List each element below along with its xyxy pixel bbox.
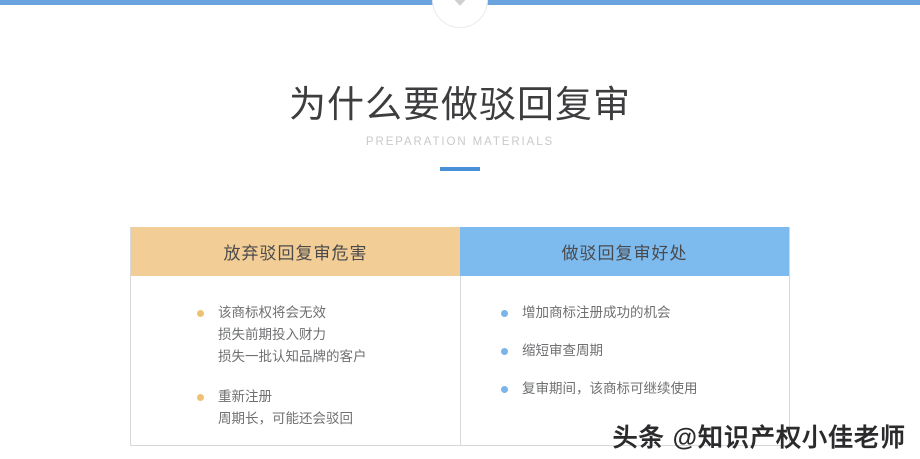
list-item-line: 复审期间，该商标可继续使用 xyxy=(522,378,789,400)
list-item-lines: 复审期间，该商标可继续使用 xyxy=(522,378,789,400)
list-item-line: 增加商标注册成功的机会 xyxy=(522,302,789,324)
comparison-table-header-row: 放弃驳回复审危害 做驳回复审好处 xyxy=(131,227,789,276)
bullet-dot-icon xyxy=(197,310,204,317)
top-divider-bar xyxy=(0,0,920,5)
list-item: 重新注册 周期长，可能还会驳回 xyxy=(197,386,460,430)
column-risk: 该商标权将会无效 损失前期投入财力 损失一批认知品牌的客户 重新注册 周期长，可… xyxy=(131,276,460,445)
accent-underline xyxy=(440,167,480,171)
list-item-lines: 重新注册 周期长，可能还会驳回 xyxy=(218,386,460,430)
column-benefit: 增加商标注册成功的机会 缩短审查周期 复审期间，该商标可继续使用 xyxy=(460,276,789,445)
watermark: 头条 @知识产权小佳老师 xyxy=(613,423,906,453)
bullet-dot-icon xyxy=(197,394,204,401)
list-item: 该商标权将会无效 损失前期投入财力 损失一批认知品牌的客户 xyxy=(197,302,460,368)
bullet-dot-icon xyxy=(501,310,508,317)
scroll-down-button[interactable] xyxy=(432,0,488,28)
bullet-dot-icon xyxy=(501,386,508,393)
list-item-lines: 缩短审查周期 xyxy=(522,340,789,362)
list-item-lines: 增加商标注册成功的机会 xyxy=(522,302,789,324)
comparison-table: 放弃驳回复审危害 做驳回复审好处 该商标权将会无效 损失前期投入财力 损失一批认… xyxy=(130,227,790,446)
column-header-risk: 放弃驳回复审危害 xyxy=(131,227,460,276)
column-header-benefit: 做驳回复审好处 xyxy=(460,227,789,276)
page-title: 为什么要做驳回复审 xyxy=(0,82,920,128)
comparison-table-body: 该商标权将会无效 损失前期投入财力 损失一批认知品牌的客户 重新注册 周期长，可… xyxy=(131,276,789,445)
list-item: 增加商标注册成功的机会 xyxy=(501,302,789,324)
section-heading: 为什么要做驳回复审 PREPARATION MATERIALS xyxy=(0,82,920,171)
list-item-line: 损失前期投入财力 xyxy=(218,324,460,346)
list-item: 复审期间，该商标可继续使用 xyxy=(501,378,789,400)
list-item-line: 损失一批认知品牌的客户 xyxy=(218,346,460,368)
list-item-line: 周期长，可能还会驳回 xyxy=(218,408,460,430)
list-item: 缩短审查周期 xyxy=(501,340,789,362)
list-item-lines: 该商标权将会无效 损失前期投入财力 损失一批认知品牌的客户 xyxy=(218,302,460,368)
list-item-line: 该商标权将会无效 xyxy=(218,302,460,324)
bullet-dot-icon xyxy=(501,348,508,355)
page-subtitle: PREPARATION MATERIALS xyxy=(0,135,920,149)
arrow-down-icon xyxy=(451,0,469,10)
list-item-line: 缩短审查周期 xyxy=(522,340,789,362)
list-item-line: 重新注册 xyxy=(218,386,460,408)
